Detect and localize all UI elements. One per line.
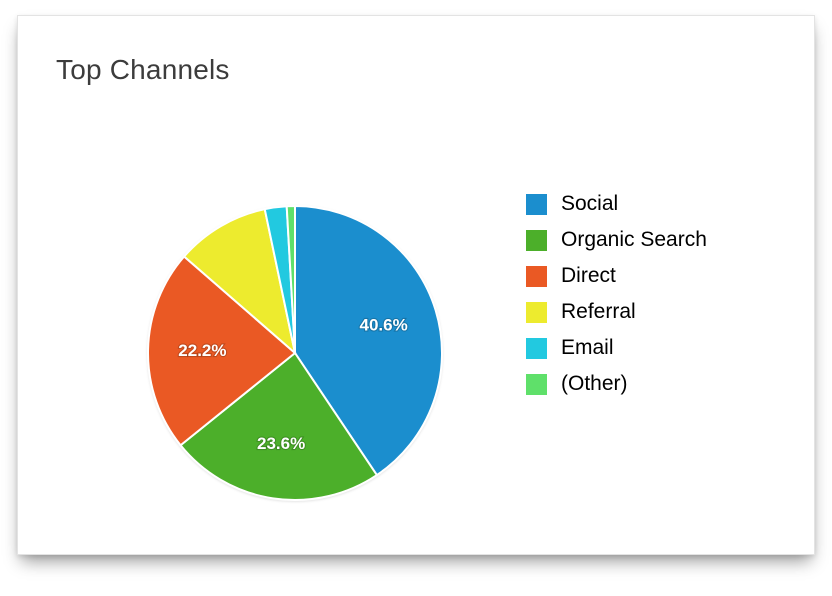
top-channels-card: Top Channels 40.6%23.6%22.2% SocialOrgan… xyxy=(17,15,815,555)
legend-color-swatch xyxy=(526,266,547,287)
pie-slice-label: 40.6% xyxy=(359,315,407,334)
pie-slice-label: 22.2% xyxy=(178,341,226,360)
legend-color-swatch xyxy=(526,374,547,395)
legend-color-swatch xyxy=(526,194,547,215)
legend-item-label: Referral xyxy=(561,300,636,324)
legend-item-label: Direct xyxy=(561,264,616,288)
legend-item[interactable]: Referral xyxy=(526,294,786,330)
legend-item-label: Email xyxy=(561,336,614,360)
legend-color-swatch xyxy=(526,302,547,323)
legend-item[interactable]: Direct xyxy=(526,258,786,294)
pie-chart-svg: 40.6%23.6%22.2% xyxy=(140,198,450,508)
legend-item[interactable]: Social xyxy=(526,186,786,222)
legend-item[interactable]: (Other) xyxy=(526,366,786,402)
legend-item[interactable]: Organic Search xyxy=(526,222,786,258)
legend-item-label: Social xyxy=(561,192,618,216)
chart-legend: SocialOrganic SearchDirectReferralEmail(… xyxy=(526,186,786,402)
legend-item-label: Organic Search xyxy=(561,228,707,252)
legend-color-swatch xyxy=(526,230,547,251)
legend-item-label: (Other) xyxy=(561,372,628,396)
screenshot-root: Top Channels 40.6%23.6%22.2% SocialOrgan… xyxy=(0,0,832,596)
legend-color-swatch xyxy=(526,338,547,359)
pie-chart-canvas: 40.6%23.6%22.2% xyxy=(140,198,450,508)
pie-slice-label: 23.6% xyxy=(257,434,305,453)
pie-chart: 40.6%23.6%22.2% SocialOrganic SearchDire… xyxy=(18,16,816,556)
legend-item[interactable]: Email xyxy=(526,330,786,366)
